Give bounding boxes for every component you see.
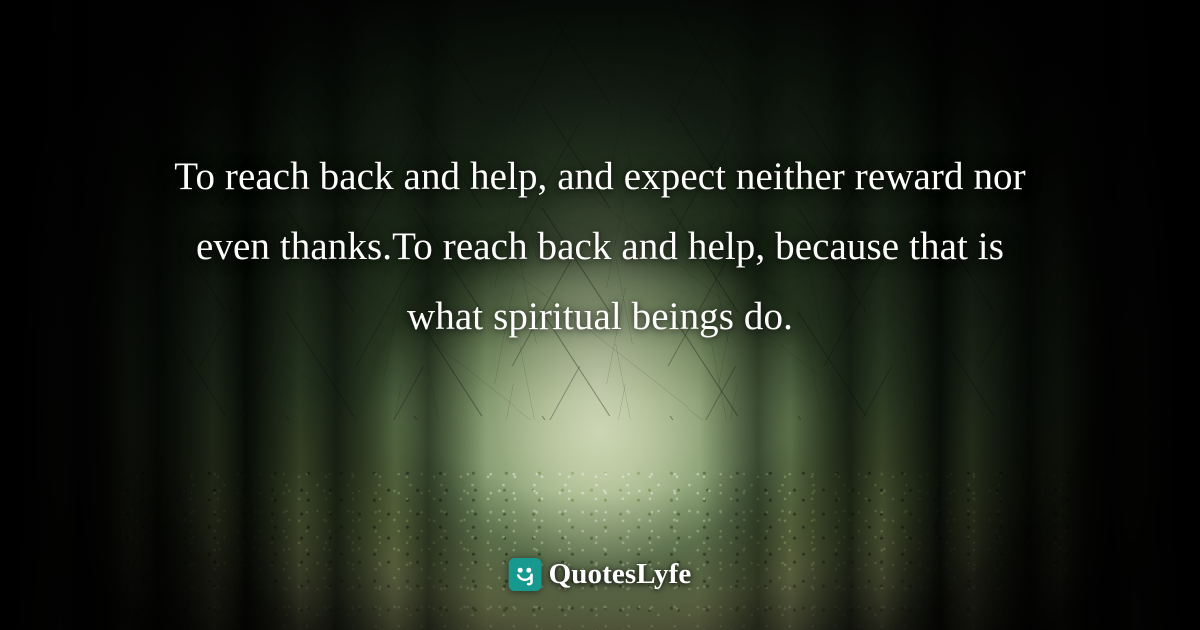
quote-text: To reach back and help, and expect neith… bbox=[160, 142, 1040, 352]
brand-name-text: QuotesLyfe bbox=[549, 560, 692, 589]
quote-card: To reach back and help, and expect neith… bbox=[0, 0, 1200, 630]
brand-logo[interactable]: QuotesLyfe bbox=[509, 558, 692, 591]
quote-smiley-icon bbox=[509, 558, 542, 591]
card-content: To reach back and help, and expect neith… bbox=[0, 0, 1200, 630]
